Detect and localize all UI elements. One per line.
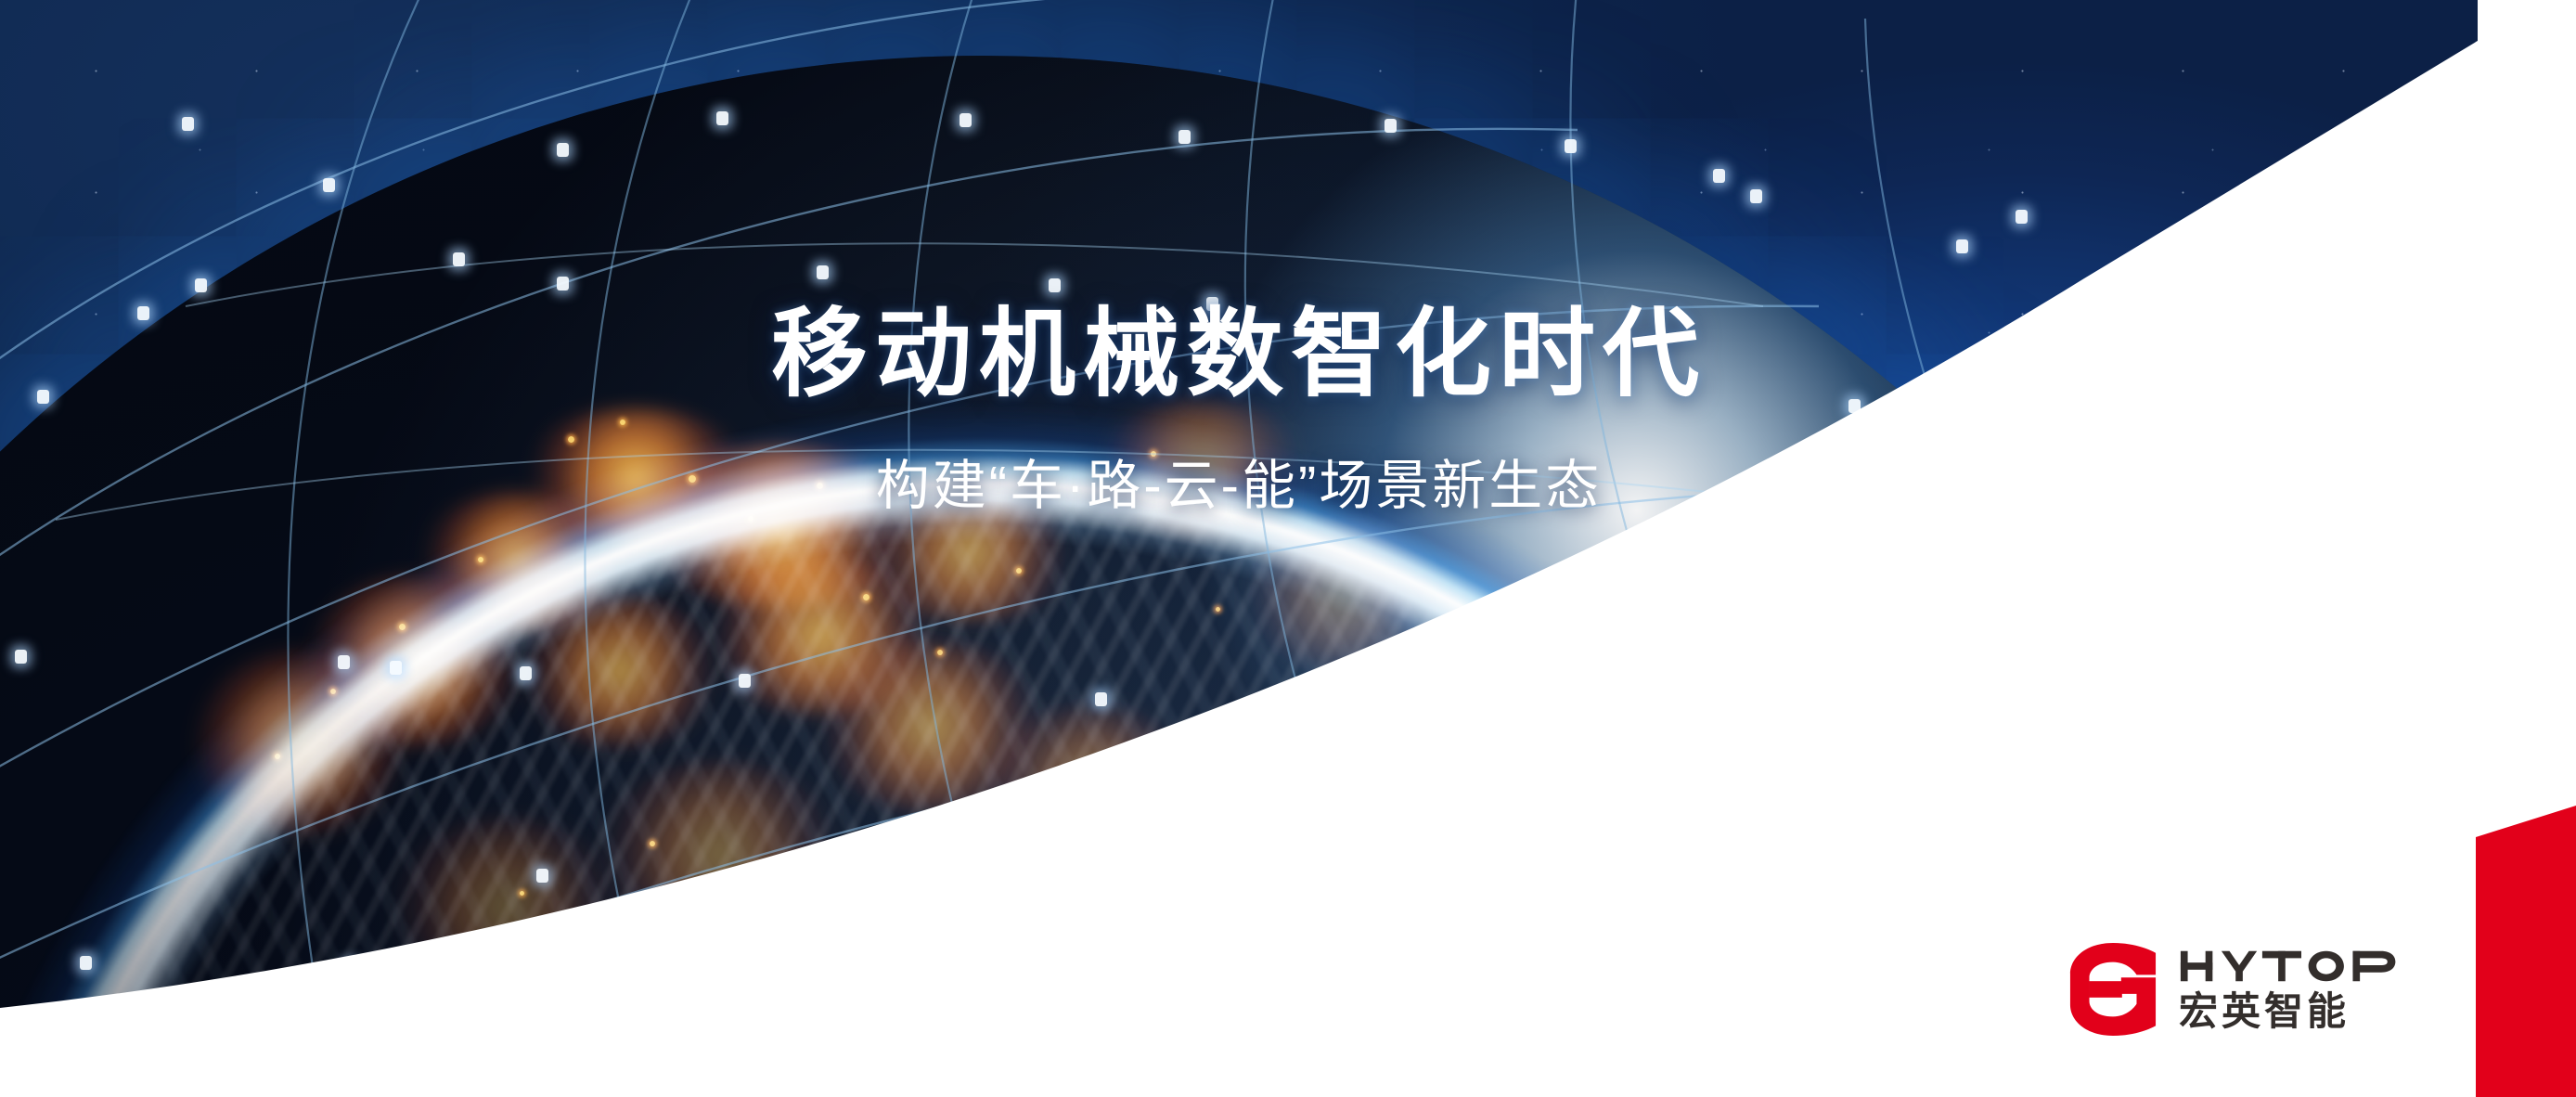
page-title: 移动机械数智化时代 — [0, 306, 2478, 403]
brand-en-wordmark — [2179, 946, 2410, 987]
hytop-g-mark-icon — [2067, 941, 2158, 1038]
space-background — [0, 0, 2478, 1097]
title-slide: 移动机械数智化时代 构建“车·路-云-能”场景新生态 — [0, 0, 2576, 1097]
brand-text: 宏英智能 — [2179, 946, 2410, 1033]
page-subtitle: 构建“车·路-云-能”场景新生态 — [0, 442, 2478, 520]
brand-logo: 宏英智能 — [2067, 941, 2410, 1038]
brand-cn-wordmark: 宏英智能 — [2179, 990, 2410, 1033]
network-arcs — [0, 0, 2478, 1097]
title-block: 移动机械数智化时代 构建“车·路-云-能”场景新生态 — [0, 306, 2478, 520]
